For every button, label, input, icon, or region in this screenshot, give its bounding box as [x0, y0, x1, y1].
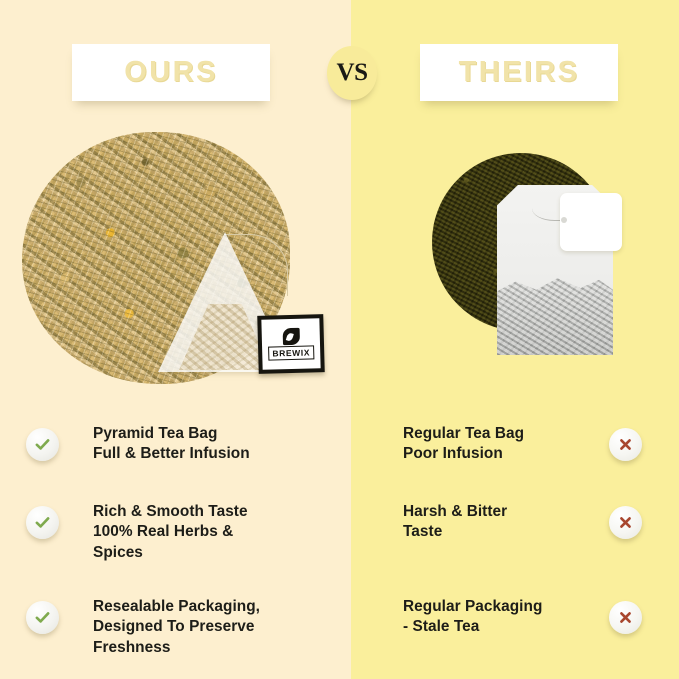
comparison-rows: Pyramid Tea Bag Full & Better Infusion R… [0, 400, 679, 679]
brand-name: BREWIX [268, 346, 314, 361]
theirs-row-1-text: Harsh & Bitter Taste [403, 502, 507, 543]
ours-row-2: Resealable Packaging, Designed To Preser… [0, 578, 351, 658]
cross-icon [609, 506, 642, 539]
ours-header-card: OURS [72, 44, 270, 101]
ours-row-1-text: Rich & Smooth Taste 100% Real Herbs & Sp… [93, 502, 248, 563]
theirs-row-2-text: Regular Packaging - Stale Tea [403, 597, 542, 638]
check-icon [26, 601, 59, 634]
comparison-row: Resealable Packaging, Designed To Preser… [0, 578, 679, 668]
check-icon [26, 428, 59, 461]
theirs-row-0: Regular Tea Bag Poor Infusion [351, 410, 679, 465]
vs-label: VS [337, 59, 368, 87]
theirs-header-label: THEIRS [459, 56, 580, 89]
ours-row-0: Pyramid Tea Bag Full & Better Infusion [0, 410, 351, 465]
cross-icon [609, 428, 642, 461]
check-icon [26, 506, 59, 539]
comparison-row: Rich & Smooth Taste 100% Real Herbs & Sp… [0, 488, 679, 578]
brand-tag: BREWIX [257, 314, 324, 374]
theirs-header-card: THEIRS [420, 44, 618, 101]
vs-badge: VS [327, 46, 377, 100]
theirs-row-0-text: Regular Tea Bag Poor Infusion [403, 424, 524, 465]
paper-tea-bag-eyelet [561, 217, 567, 223]
theirs-row-2: Regular Packaging - Stale Tea [351, 578, 679, 638]
ours-product-image: BREWIX [10, 128, 340, 396]
ours-row-0-text: Pyramid Tea Bag Full & Better Infusion [93, 424, 250, 465]
cross-icon [609, 601, 642, 634]
theirs-product-image [420, 145, 660, 395]
ours-row-2-text: Resealable Packaging, Designed To Preser… [93, 597, 260, 658]
comparison-row: Pyramid Tea Bag Full & Better Infusion R… [0, 410, 679, 488]
brand-tag-inner: BREWIX [261, 318, 320, 370]
ours-header-label: OURS [124, 56, 217, 89]
ours-row-1: Rich & Smooth Taste 100% Real Herbs & Sp… [0, 488, 351, 563]
comparison-infographic: OURS VS THEIRS BREWIX [0, 0, 679, 679]
paper-tea-bag-tag [560, 193, 622, 251]
theirs-row-1: Harsh & Bitter Taste [351, 488, 679, 543]
leaf-swirl-icon [282, 328, 299, 345]
